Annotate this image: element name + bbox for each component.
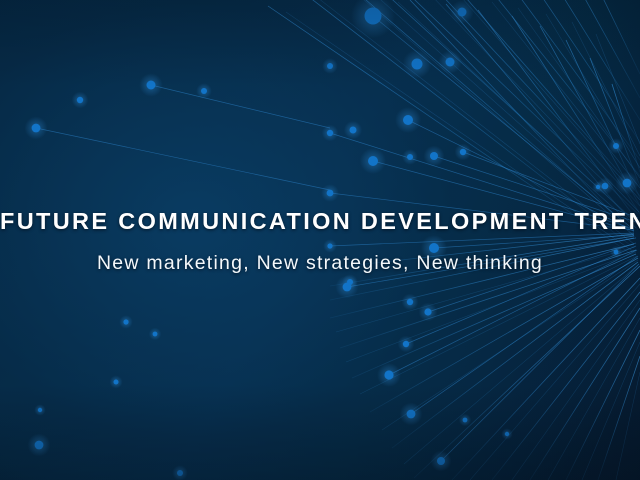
network-dot [460,149,466,155]
network-dot [463,418,468,423]
network-dot [613,143,619,149]
page-title: FUTURE COMMUNICATION DEVELOPMENT TRENDS [0,206,640,236]
network-dot [430,152,438,160]
network-dot [32,124,41,133]
network-dot [407,299,413,305]
network-dot [424,308,431,315]
network-dot [153,332,158,337]
network-dot [327,63,333,69]
network-dot [602,183,609,190]
network-dot [368,156,378,166]
page-subtitle: New marketing, New strategies, New think… [0,250,640,276]
network-dot [147,81,156,90]
network-dot [35,441,44,450]
network-dot [77,97,83,103]
network-dot [596,185,600,189]
network-dot [327,130,333,136]
network-dot [201,88,207,94]
network-dot [384,370,393,379]
ray-bundle-lower-faint [336,247,640,480]
network-dot [114,380,119,385]
network-dot [407,154,413,160]
network-dot [505,432,509,436]
network-dot [327,190,334,197]
network-dot [458,8,467,17]
network-dot [407,410,416,419]
network-dot [446,58,455,67]
network-dot [123,319,128,324]
network-dot [412,59,423,70]
network-dot [343,283,352,292]
network-dot [623,179,632,188]
presentation-slide: FUTURE COMMUNICATION DEVELOPMENT TRENDS … [0,0,640,480]
network-dot [403,341,409,347]
network-dot [403,115,413,125]
network-dot [365,8,382,25]
network-dot [177,470,183,476]
network-dot [38,408,42,412]
network-dot [350,127,357,134]
title-block: FUTURE COMMUNICATION DEVELOPMENT TRENDS … [0,206,640,276]
network-dot [437,457,445,465]
